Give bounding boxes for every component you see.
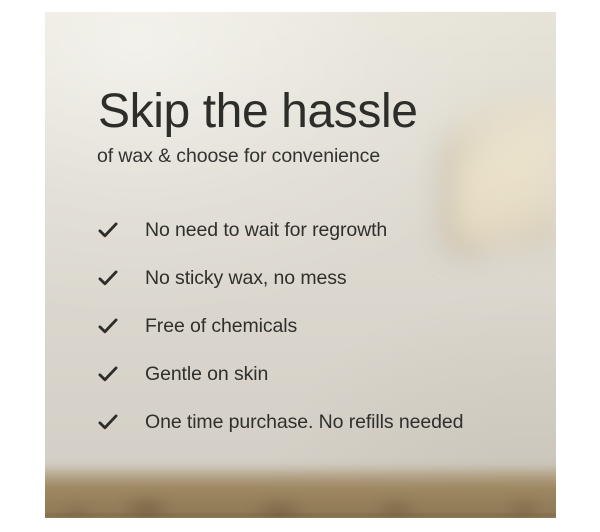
list-item: One time purchase. No refills needed [97,398,537,446]
list-item: Gentle on skin [97,350,537,398]
product-photo: Skip the hassle of wax & choose for conv… [45,12,556,518]
benefit-list: No need to wait for regrowth No sticky w… [97,206,537,446]
check-icon [97,315,145,337]
benefit-label: Gentle on skin [145,363,268,386]
check-icon [97,267,145,289]
benefit-label: One time purchase. No refills needed [145,411,463,434]
headline: Skip the hassle [98,86,418,138]
check-icon [97,219,145,241]
list-item: No sticky wax, no mess [97,254,537,302]
benefit-label: No need to wait for regrowth [145,219,387,242]
screenshot-canvas: Skip the hassle of wax & choose for conv… [0,0,600,532]
subheadline: of wax & choose for convenience [97,144,380,169]
benefit-label: No sticky wax, no mess [145,267,347,290]
benefit-label: Free of chemicals [145,315,297,338]
check-icon [97,363,145,385]
list-item: No need to wait for regrowth [97,206,537,254]
list-item: Free of chemicals [97,302,537,350]
check-icon [97,411,145,433]
text-overlay: Skip the hassle of wax & choose for conv… [45,12,556,518]
